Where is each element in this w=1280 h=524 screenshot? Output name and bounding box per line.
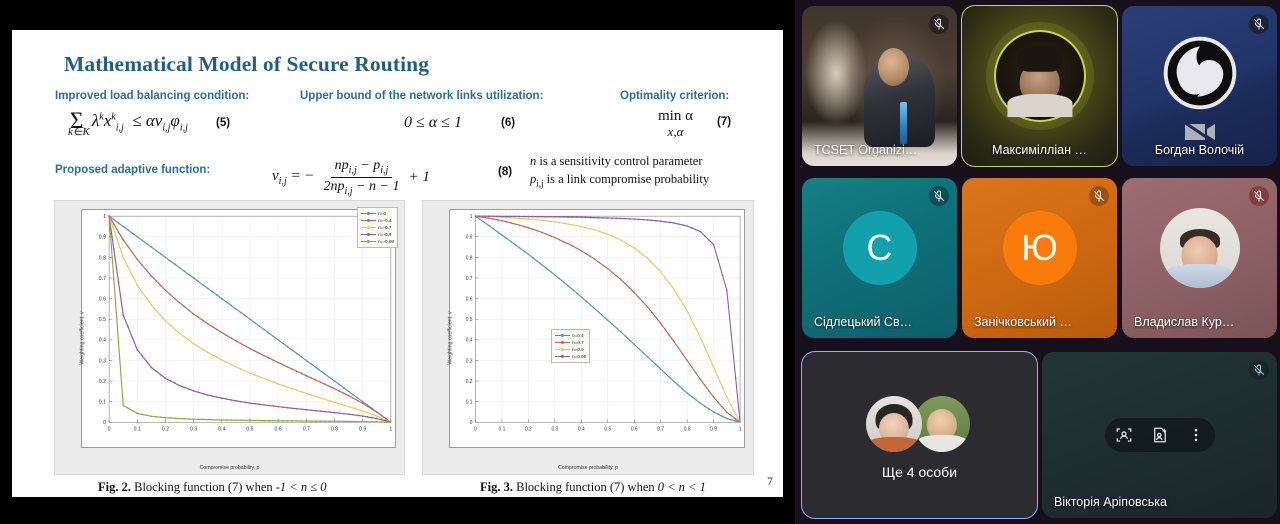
page-title: Mathematical Model of Secure Routing [64,52,429,77]
svg-text:0: 0 [103,420,106,426]
svg-text:1: 1 [739,426,742,432]
legend-swatch [555,356,570,357]
svg-text:0.9: 0.9 [466,235,473,241]
svg-text:0.1: 0.1 [466,399,473,405]
legend-item: n=0.99 [555,353,586,360]
participant-grid: TCSET Organizi… Максимілліан … [795,0,1280,524]
svg-text:0.1: 0.1 [99,400,106,406]
legend-swatch [555,342,570,343]
avatar [914,396,970,452]
avatar-shirt [1165,264,1234,288]
participant-name: Владислав Кур… [1134,315,1251,329]
equation-7-number: (7) [717,116,731,128]
mic-muted-icon [929,14,949,34]
legend-label: n=-0.9 [378,231,391,238]
legend-item: n=-0.9 [361,231,394,238]
svg-text:0.2: 0.2 [99,379,106,385]
fig3-x-axis-label: Compromise probability, p [423,465,753,471]
svg-text:0.9: 0.9 [710,426,717,432]
legend-item: n=0.4 [555,332,586,339]
svg-text:0.3: 0.3 [466,358,473,364]
participant-tile-maksymillian[interactable]: Максимілліан … [962,6,1117,166]
fig2-legend: n=0n=-0.4n=-0.7n=-0.9n=-0.99 [357,207,398,248]
equation-6: 0 ≤ α ≤ 1 [404,114,462,132]
avatar-initial: Ю [1003,211,1077,285]
svg-text:0.4: 0.4 [578,426,585,432]
tile-hover-toolbar[interactable] [1105,418,1215,452]
mic-muted-icon [1249,360,1269,380]
svg-text:0.2: 0.2 [525,426,532,432]
avatar [1160,208,1240,288]
legend-swatch [361,234,376,235]
svg-text:0: 0 [474,426,477,432]
participant-name: Сідлецький Св… [814,315,931,329]
avatar [866,396,922,452]
svg-text:0.1: 0.1 [134,427,141,433]
equation-7: min α x,α [658,109,693,138]
fig2-caption-text: Blocking function (7) when [131,480,276,494]
figure-3-caption: Fig. 3. Blocking function (7) when 0 < n… [480,480,706,495]
participant-name: TCSET Organizi… [814,143,931,157]
mic-muted-icon [929,186,949,206]
fig3-legend: n=0.4n=0.7n=0.9n=0.99 [551,329,590,363]
video-person-head [878,48,909,86]
svg-text:0.4: 0.4 [218,427,225,433]
fig3-caption-condition: 0 < n < 1 [658,480,706,494]
camera-off-icon [1183,120,1217,144]
pin-icon[interactable] [1111,422,1137,448]
svg-text:0.5: 0.5 [246,427,253,433]
svg-text:0.5: 0.5 [99,317,106,323]
fig2-x-axis-label: Compromise probability, p [55,465,404,471]
fig3-caption-text: Blocking function (7) when [513,480,658,494]
parameter-notes: n is a sensitivity control parameter pi,… [530,152,780,191]
svg-text:0.8: 0.8 [331,427,338,433]
svg-text:0.8: 0.8 [99,255,106,261]
svg-text:0.2: 0.2 [162,427,169,433]
svg-text:1: 1 [389,427,392,433]
svg-text:1: 1 [470,214,473,220]
svg-text:0.4: 0.4 [466,338,473,344]
label-upper-bound: Upper bound of the network links utiliza… [300,90,543,102]
mic-muted-icon [1249,186,1269,206]
equation-7-line2: x,α [658,125,693,139]
legend-swatch [361,220,376,221]
label-optimality: Optimality criterion: [620,90,729,102]
presentation-slide: Mathematical Model of Secure Routing Imp… [12,30,783,497]
spotlight-icon[interactable] [1147,422,1173,448]
avatar-initial: С [843,211,917,285]
figure-3-chart: 00.10.20.30.40.50.60.70.80.9100.10.20.30… [422,200,754,475]
fig3-svg: 00.10.20.30.40.50.60.70.80.9100.10.20.30… [450,210,744,447]
svg-text:0.6: 0.6 [466,296,473,302]
legend-label: n=0 [378,210,386,217]
video-bottle [900,102,908,144]
svg-text:0.8: 0.8 [684,426,691,432]
equation-6-number: (6) [501,117,515,129]
svg-text:0.7: 0.7 [99,276,106,282]
svg-text:1: 1 [103,214,106,220]
participant-name: Максимілліан … [962,143,1117,157]
legend-swatch [361,241,376,242]
fig2-svg: 00.10.20.30.40.50.60.70.80.9100.10.20.30… [82,210,395,447]
svg-text:0.9: 0.9 [359,427,366,433]
legend-label: n=0.4 [572,332,584,339]
svg-text:0.5: 0.5 [604,426,611,432]
svg-text:0.6: 0.6 [275,427,282,433]
legend-item: n=0 [361,210,394,217]
svg-text:0: 0 [108,427,111,433]
legend-item: n=0.7 [555,339,586,346]
label-adaptive-function: Proposed adaptive function: [55,164,210,176]
participant-name: Вікторія Аріповська [1054,495,1251,509]
legend-item: n=-0.7 [361,224,394,231]
svg-text:0.5: 0.5 [466,317,473,323]
participant-tile-sidletskyi[interactable]: С Сідлецький Св… [802,178,957,338]
legend-item: n=0.9 [555,346,586,353]
fig3-caption-prefix: Fig. 3. [480,480,513,494]
equation-5-number: (5) [216,117,230,129]
legend-swatch [361,213,376,214]
legend-label: n=0.99 [572,353,586,360]
legend-item: n=-0.99 [361,238,394,245]
legend-swatch [361,227,376,228]
fig2-plot-area: 00.10.20.30.40.50.60.70.80.9100.10.20.30… [81,209,396,448]
svg-text:0.1: 0.1 [499,426,506,432]
legend-swatch [555,335,570,336]
note-line-2: pi,j is a link compromise probability [530,170,780,191]
fig2-caption-prefix: Fig. 2. [98,480,131,494]
participant-tile-viktoriia-aripovska[interactable]: Вікторія Аріповська [1042,352,1277,518]
note-line-1: n is a sensitivity control parameter [530,152,780,170]
more-options-icon[interactable] [1183,422,1209,448]
svg-text:0.7: 0.7 [657,426,664,432]
svg-text:0.7: 0.7 [303,427,310,433]
svg-text:0.7: 0.7 [466,276,473,282]
participant-tile-more-people[interactable]: Ще 4 особи [802,352,1037,518]
participant-tile-tcset-organizers[interactable]: TCSET Organizi… [802,6,957,166]
svg-text:0.6: 0.6 [99,296,106,302]
svg-text:0: 0 [470,420,473,426]
equation-8-number: (8) [498,166,512,178]
mic-muted-icon [1089,186,1109,206]
meeting-window: Mathematical Model of Secure Routing Imp… [0,0,1280,524]
participant-name: Занічковський … [974,315,1091,329]
figure-2-chart: 00.10.20.30.40.50.60.70.80.9100.10.20.30… [54,200,405,475]
label-load-balancing: Improved load balancing condition: [55,90,249,102]
avatar [994,30,1086,122]
svg-text:0.3: 0.3 [190,427,197,433]
fig2-caption-condition: -1 < n ≤ 0 [276,480,327,494]
svg-text:0.3: 0.3 [99,358,106,364]
slide-page-number: 7 [767,474,773,489]
svg-text:0.2: 0.2 [466,379,473,385]
legend-label: n=-0.7 [378,224,391,231]
equation-5: Σk∈K λkxki,j ≤ αvi,jφi,j [70,108,188,134]
note-1-text: is a sensitivity control parameter [536,154,702,168]
equation-7-line1: min α [658,108,693,124]
fig3-y-axis-label: Weighting coefficient, v [448,311,454,364]
note-2-text: is a link compromise probability [544,172,710,186]
legend-label: n=0.7 [572,339,584,346]
participant-tile-vladyslav-kur[interactable]: Владислав Кур… [1122,178,1277,338]
legend-swatch [555,349,570,350]
mic-muted-icon [1249,14,1269,34]
svg-text:0.4: 0.4 [99,338,106,344]
fig2-y-axis-label: Weighting coefficient, v [80,311,86,364]
legend-item: n=-0.4 [361,217,394,224]
fig3-plot-area: 00.10.20.30.40.50.60.70.80.9100.10.20.30… [449,209,745,448]
svg-text:0.3: 0.3 [551,426,558,432]
participant-tile-zanichkovskyi[interactable]: Ю Занічковський … [962,178,1117,338]
more-people-label: Ще 4 особи [802,464,1037,480]
svg-text:0.8: 0.8 [466,255,473,261]
legend-label: n=0.9 [572,346,584,353]
legend-label: n=-0.99 [378,238,394,245]
svg-text:0.9: 0.9 [99,235,106,241]
obs-logo-icon [1161,34,1239,112]
legend-label: n=-0.4 [378,217,391,224]
participant-name: Богдан Волочій [1122,143,1277,157]
note-2-subscript: i,j [536,179,543,189]
svg-text:0.6: 0.6 [631,426,638,432]
equation-8: vi,j = − npi,j − pi,j 2npi,j − n − 1 + 1 [272,158,430,198]
figure-2-caption: Fig. 2. Blocking function (7) when -1 < … [98,480,326,495]
participant-tile-bohdan-volochii[interactable]: Богдан Волочій [1122,6,1277,166]
shared-screen-stage[interactable]: Mathematical Model of Secure Routing Imp… [0,0,795,524]
